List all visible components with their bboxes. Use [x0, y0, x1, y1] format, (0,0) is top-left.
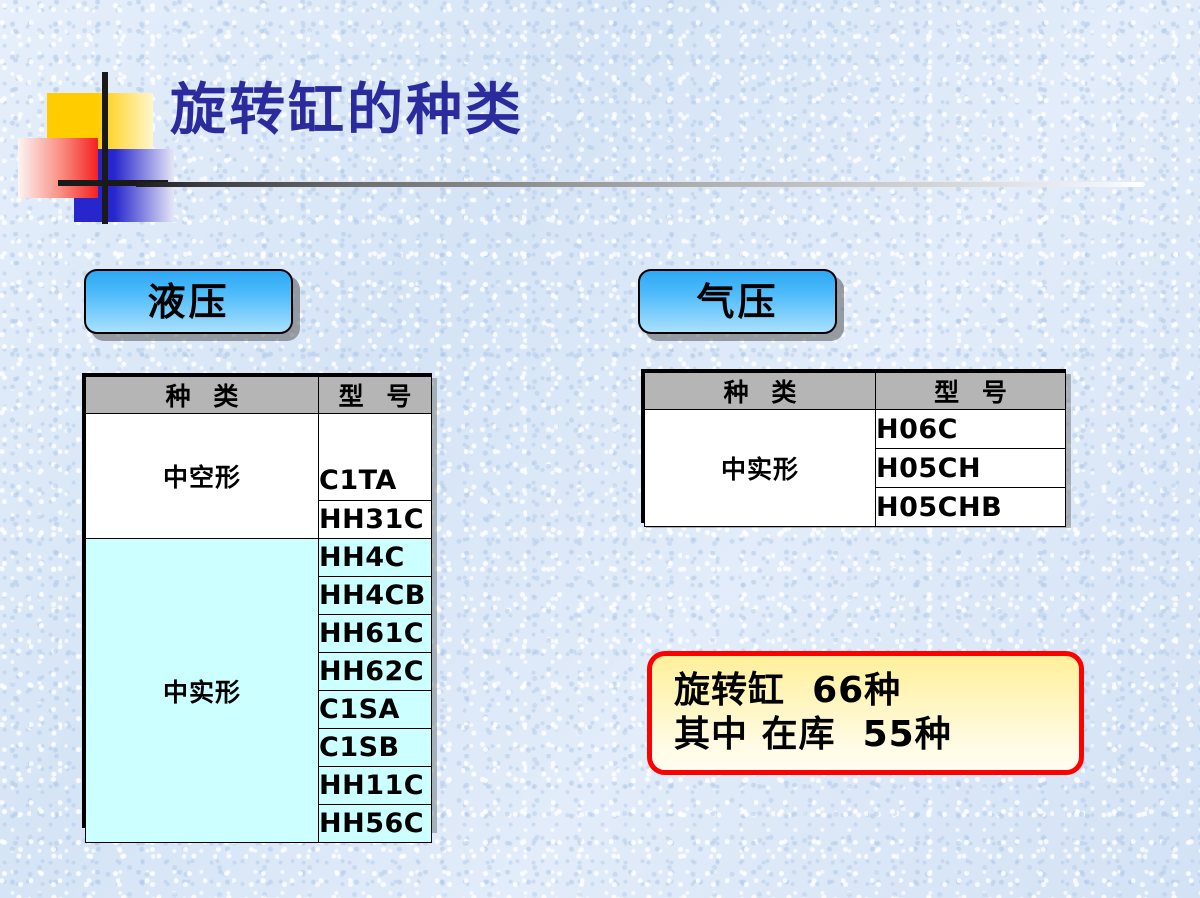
section-badge-hydraulic-label: 液压	[147, 283, 229, 321]
table-row: 中空形 C1TA	[86, 414, 432, 501]
section-badge-pneumatic-label: 气压	[696, 283, 778, 321]
model-cell: C1SB	[319, 729, 432, 767]
summary-callout: 旋转缸 66种 其中 在库 55种	[647, 651, 1084, 775]
table-header-row: 种 类 型 号	[86, 377, 432, 414]
category-cell-solid: 中实形	[86, 539, 319, 843]
title-decoration-graphic	[18, 72, 168, 224]
table-header-row: 种 类 型 号	[645, 373, 1066, 410]
model-cell: HH61C	[319, 615, 432, 653]
header-model: 型 号	[319, 377, 432, 414]
table-row: 中实形 HH4C	[86, 539, 432, 577]
model-cell: HH62C	[319, 653, 432, 691]
model-cell: H05CH	[876, 449, 1066, 488]
model-cell: C1SA	[319, 691, 432, 729]
header-category: 种 类	[645, 373, 876, 410]
summary-line-in-stock: 其中 在库 55种	[674, 713, 1079, 757]
model-cell: H05CHB	[876, 488, 1066, 527]
pneumatic-type-table: 种 类 型 号 中实形 H06C H05CH H05CHB	[641, 369, 1066, 523]
header-model: 型 号	[876, 373, 1066, 410]
hydraulic-type-table: 种 类 型 号 中空形 C1TA HH31C 中实形 HH4C HH4C	[82, 373, 432, 828]
model-cell: HH56C	[319, 805, 432, 843]
category-cell-solid: 中实形	[645, 410, 876, 527]
model-cell: H06C	[876, 410, 1066, 449]
slide-canvas: 旋转缸的种类 液压 气压 种 类 型 号 中空形 C1TA HH31C	[0, 0, 1200, 898]
model-cell: HH11C	[319, 767, 432, 805]
section-badge-hydraulic[interactable]: 液压	[84, 269, 293, 334]
hydraulic-table-grid: 种 类 型 号 中空形 C1TA HH31C 中实形 HH4C HH4C	[85, 376, 432, 843]
section-badge-pneumatic[interactable]: 气压	[638, 269, 837, 334]
deco-vertical-bar	[102, 72, 108, 224]
model-cell: HH31C	[319, 501, 432, 539]
model-cell: HH4C	[319, 539, 432, 577]
page-title: 旋转缸的种类	[170, 83, 524, 139]
model-cell: HH4CB	[319, 577, 432, 615]
table-row: 中实形 H06C	[645, 410, 1066, 449]
title-underline-rule	[136, 182, 1142, 187]
header-category: 种 类	[86, 377, 319, 414]
category-cell-hollow: 中空形	[86, 414, 319, 539]
deco-red-rectangle	[18, 138, 98, 198]
model-cell: C1TA	[319, 414, 432, 501]
pneumatic-table-grid: 种 类 型 号 中实形 H06C H05CH H05CHB	[644, 372, 1066, 527]
summary-line-total: 旋转缸 66种	[674, 669, 1079, 713]
